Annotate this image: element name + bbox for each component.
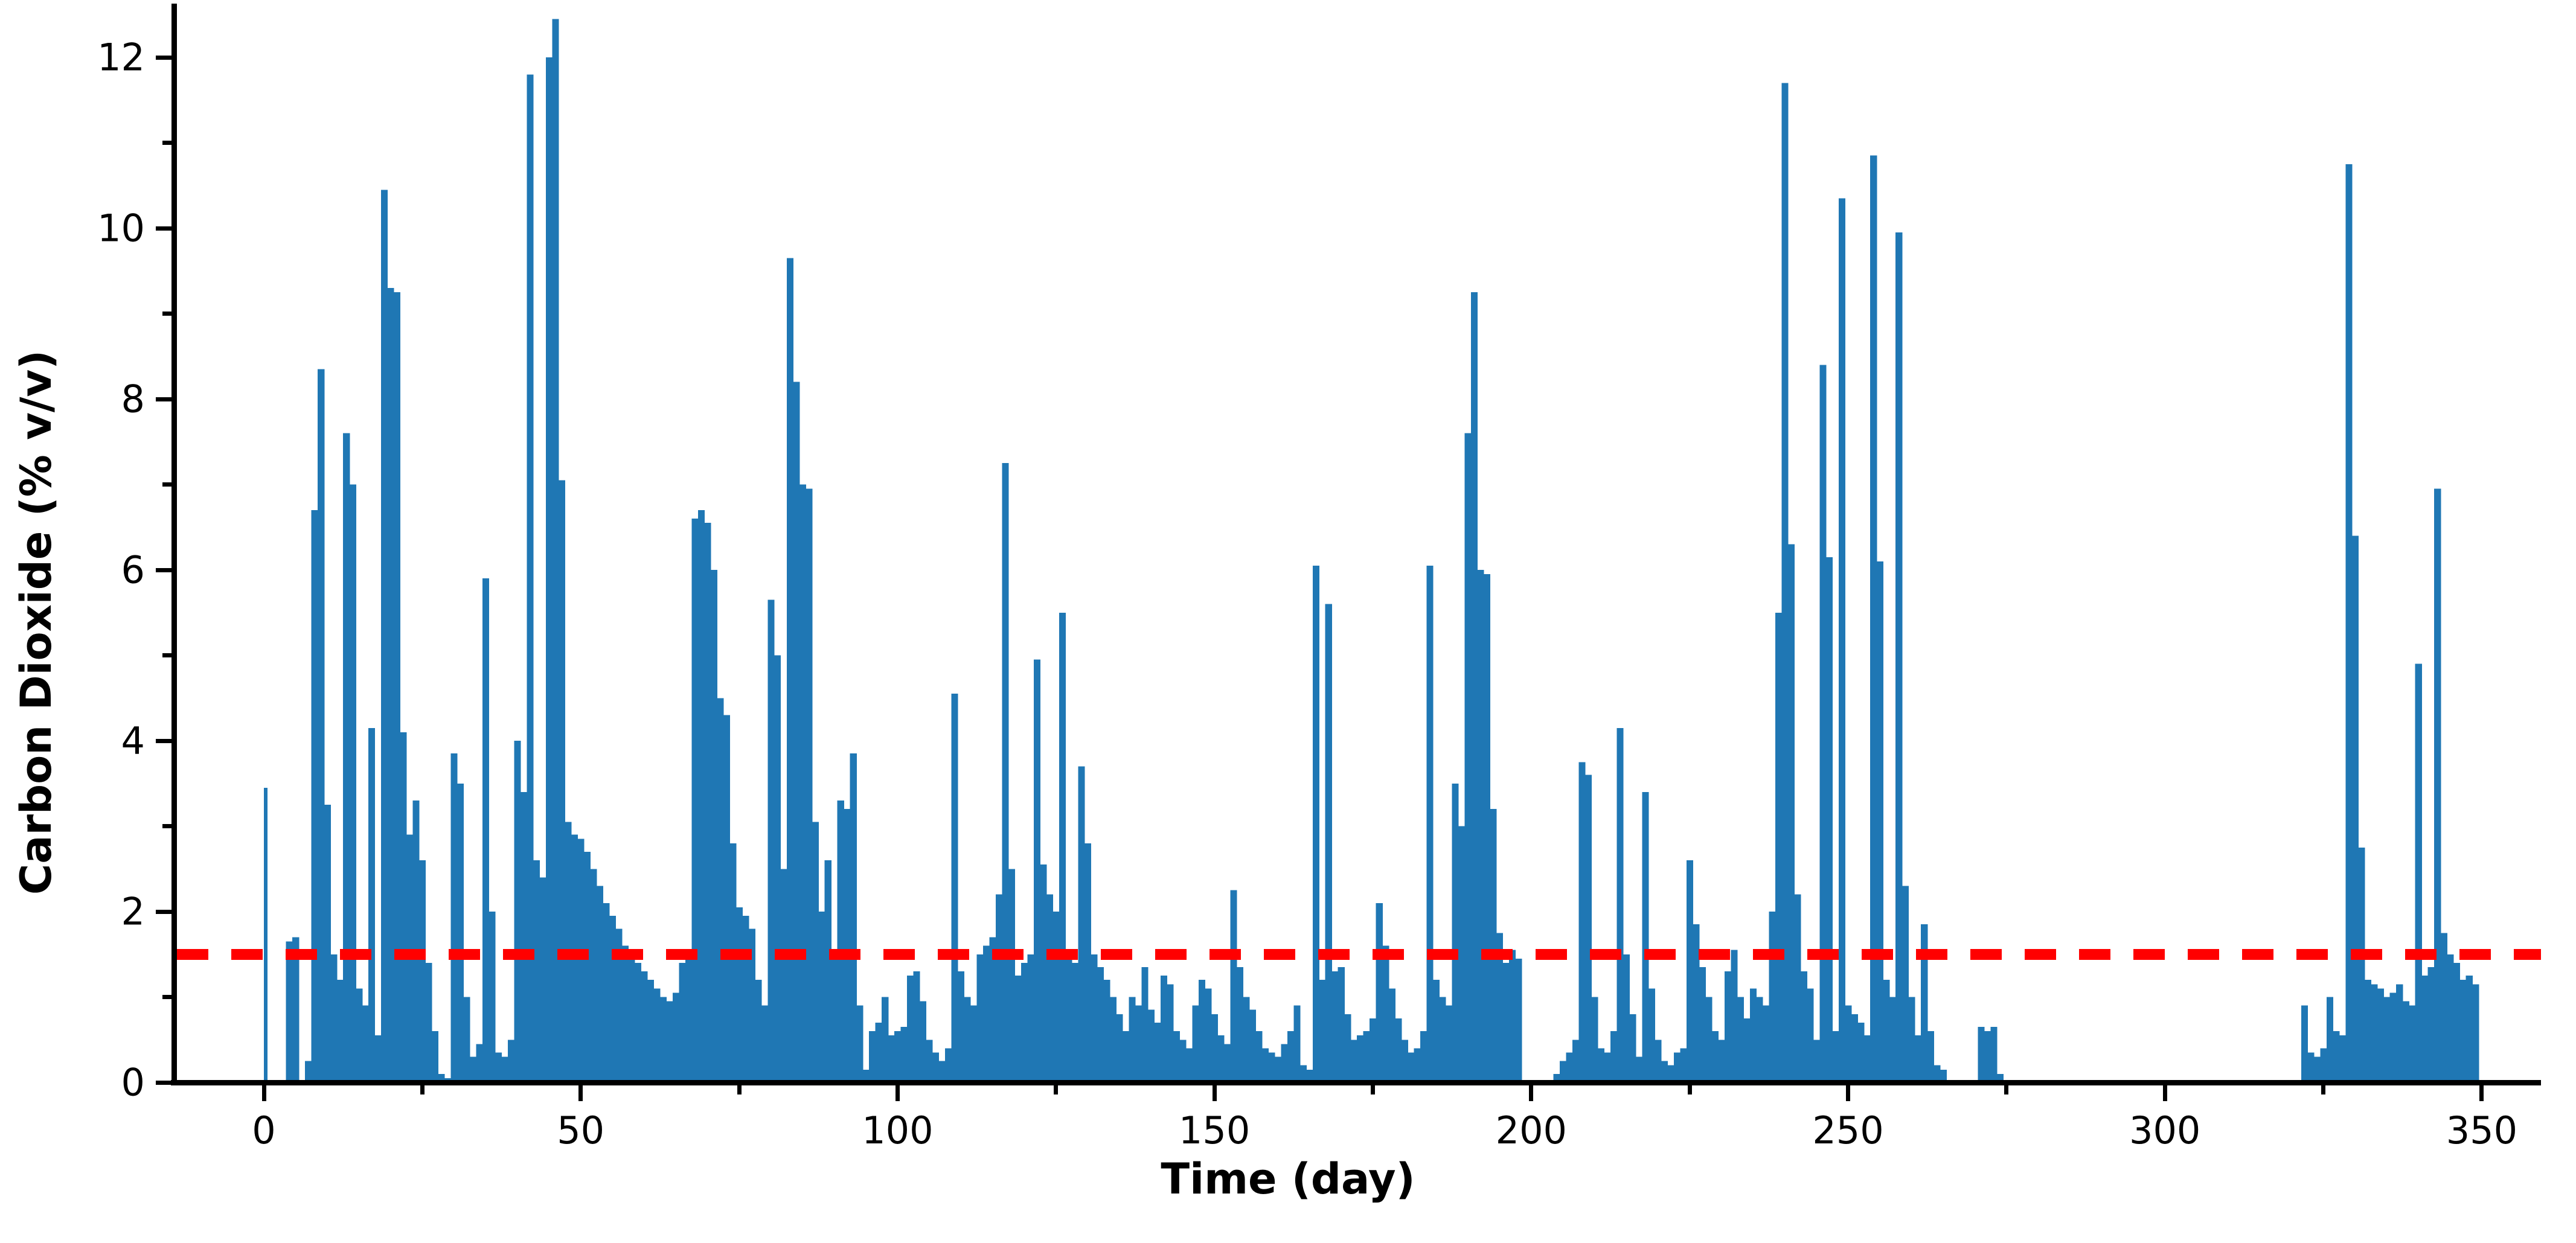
x-axis-line [171,1080,2541,1085]
x-tick-label-300: 300 [2129,1108,2200,1152]
y-minor-tick-11 [162,141,171,145]
y-tick-12 [156,56,171,60]
y-tick-label-8: 8 [121,377,145,421]
x-tick-label-200: 200 [1496,1108,1567,1152]
y-minor-tick-1 [162,995,171,999]
bar-series [264,6,2510,1082]
x-tick-250 [1846,1085,1850,1101]
x-tick-label-350: 350 [2446,1108,2517,1152]
y-tick-4 [156,739,171,743]
x-tick-300 [2163,1085,2167,1101]
y-tick-label-4: 4 [121,719,145,763]
y-tick-10 [156,226,171,231]
x-tick-label-100: 100 [862,1108,933,1152]
y-tick-label-10: 10 [97,206,145,251]
x-minor-tick-175 [1371,1085,1375,1094]
y-tick-6 [156,568,171,572]
x-minor-tick-225 [1688,1085,1692,1094]
x-minor-tick-125 [1054,1085,1058,1094]
x-tick-100 [896,1085,900,1101]
x-axis-label: Time (day) [0,1154,2576,1204]
threshold-line [177,949,2541,960]
x-tick-350 [2479,1085,2484,1101]
y-tick-2 [156,910,171,914]
y-tick-label-0: 0 [121,1061,145,1105]
y-minor-tick-5 [162,653,171,657]
y-minor-tick-7 [162,482,171,487]
x-tick-label-150: 150 [1179,1108,1250,1152]
x-tick-200 [1529,1085,1533,1101]
x-tick-label-0: 0 [252,1108,275,1152]
x-minor-tick-275 [2004,1085,2008,1094]
y-tick-label-6: 6 [121,548,145,592]
x-tick-150 [1213,1085,1217,1101]
x-tick-0 [262,1085,266,1101]
plot-area [264,6,2510,1082]
x-minor-tick-25 [420,1085,425,1094]
y-minor-tick-9 [162,312,171,316]
y-minor-tick-3 [162,824,171,828]
x-tick-50 [578,1085,583,1101]
x-tick-label-250: 250 [1812,1108,1883,1152]
x-minor-tick-325 [2321,1085,2325,1094]
y-tick-label-12: 12 [97,36,145,80]
y-axis-label: Carbon Dioxide (% v/v) [11,200,61,1045]
x-minor-tick-75 [737,1085,742,1094]
y-tick-8 [156,397,171,401]
y-tick-0 [156,1081,171,1085]
y-tick-label-2: 2 [121,890,145,934]
x-tick-label-50: 50 [557,1108,604,1152]
chart-figure: 050100150200250300350 024681012 Time (da… [0,0,2576,1243]
y-axis-line [171,4,177,1085]
